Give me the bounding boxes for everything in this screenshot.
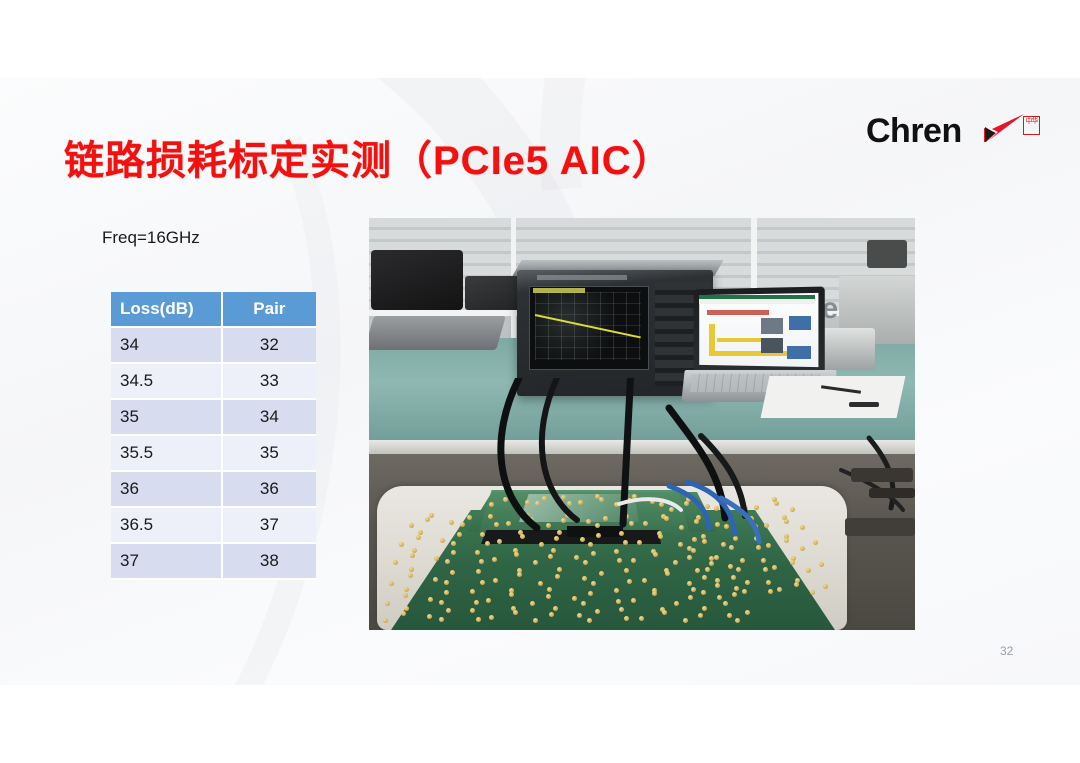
photo-coax-cables [369,378,915,630]
logo-wordmark: Chren [866,112,962,151]
cell-pair: 36 [222,471,316,507]
loss-pair-table: Loss(dB) Pair 34 32 34.5 33 35 34 35.5 3… [111,292,316,580]
photo-equipment-bag [371,250,463,310]
cell-loss: 36.5 [111,507,222,543]
table-row: 37 38 [111,543,316,579]
photo-laptop-app-ribbon [699,295,815,304]
table-row: 36 36 [111,471,316,507]
photo-floor-item [869,488,915,498]
cell-loss: 35.5 [111,435,222,471]
slide: 链路损耗标定实测（PCIe5 AIC） Chren 中华 Freq=16GHz … [0,0,1080,763]
table-row: 34.5 33 [111,363,316,399]
photo-left-laptop [369,316,506,350]
photo-rack-equipment [867,240,907,268]
frequency-caption: Freq=16GHz [102,228,200,248]
photo-laptop-diagram-bar [709,324,715,354]
photo-floor-item [845,518,915,536]
slide-title: 链路损耗标定实测（PCIe5 AIC） [64,128,673,186]
table-row: 34 32 [111,327,316,363]
cell-loss: 34.5 [111,363,222,399]
photo-vna-marker-readout [533,288,585,293]
cell-loss: 36 [111,471,222,507]
photo-laptop-diagram-box [761,318,783,334]
cell-pair: 34 [222,399,316,435]
cell-pair: 33 [222,363,316,399]
table-row: 36.5 37 [111,507,316,543]
cell-loss: 35 [111,399,222,435]
photo-laptop-diagram-box [789,316,811,330]
column-header-loss: Loss(dB) [111,292,222,327]
logo-seal-mark: 中华 [1023,116,1040,135]
table-body: 34 32 34.5 33 35 34 35.5 35 36 36 36.5 3… [111,327,316,579]
cell-pair: 37 [222,507,316,543]
photo-floor-item [851,468,913,482]
photo-vna-brand-bar [537,275,627,280]
photo-laptop-diagram-box [761,338,783,353]
table-row: 35 34 [111,399,316,435]
cell-loss: 37 [111,543,222,579]
cell-pair: 38 [222,543,316,579]
table-row: 35.5 35 [111,435,316,471]
cell-loss: 34 [111,327,222,363]
cell-pair: 35 [222,435,316,471]
company-logo: Chren 中华 [866,110,1046,158]
table-header-row: Loss(dB) Pair [111,292,316,327]
logo-arrow-icon [982,114,1024,142]
column-header-pair: Pair [222,292,316,327]
cell-pair: 32 [222,327,316,363]
lab-setup-photo: Chre [369,218,915,630]
page-number: 32 [1000,644,1013,658]
photo-laptop-diagram-box [787,346,811,359]
photo-laptop-diagram-title [707,310,769,315]
